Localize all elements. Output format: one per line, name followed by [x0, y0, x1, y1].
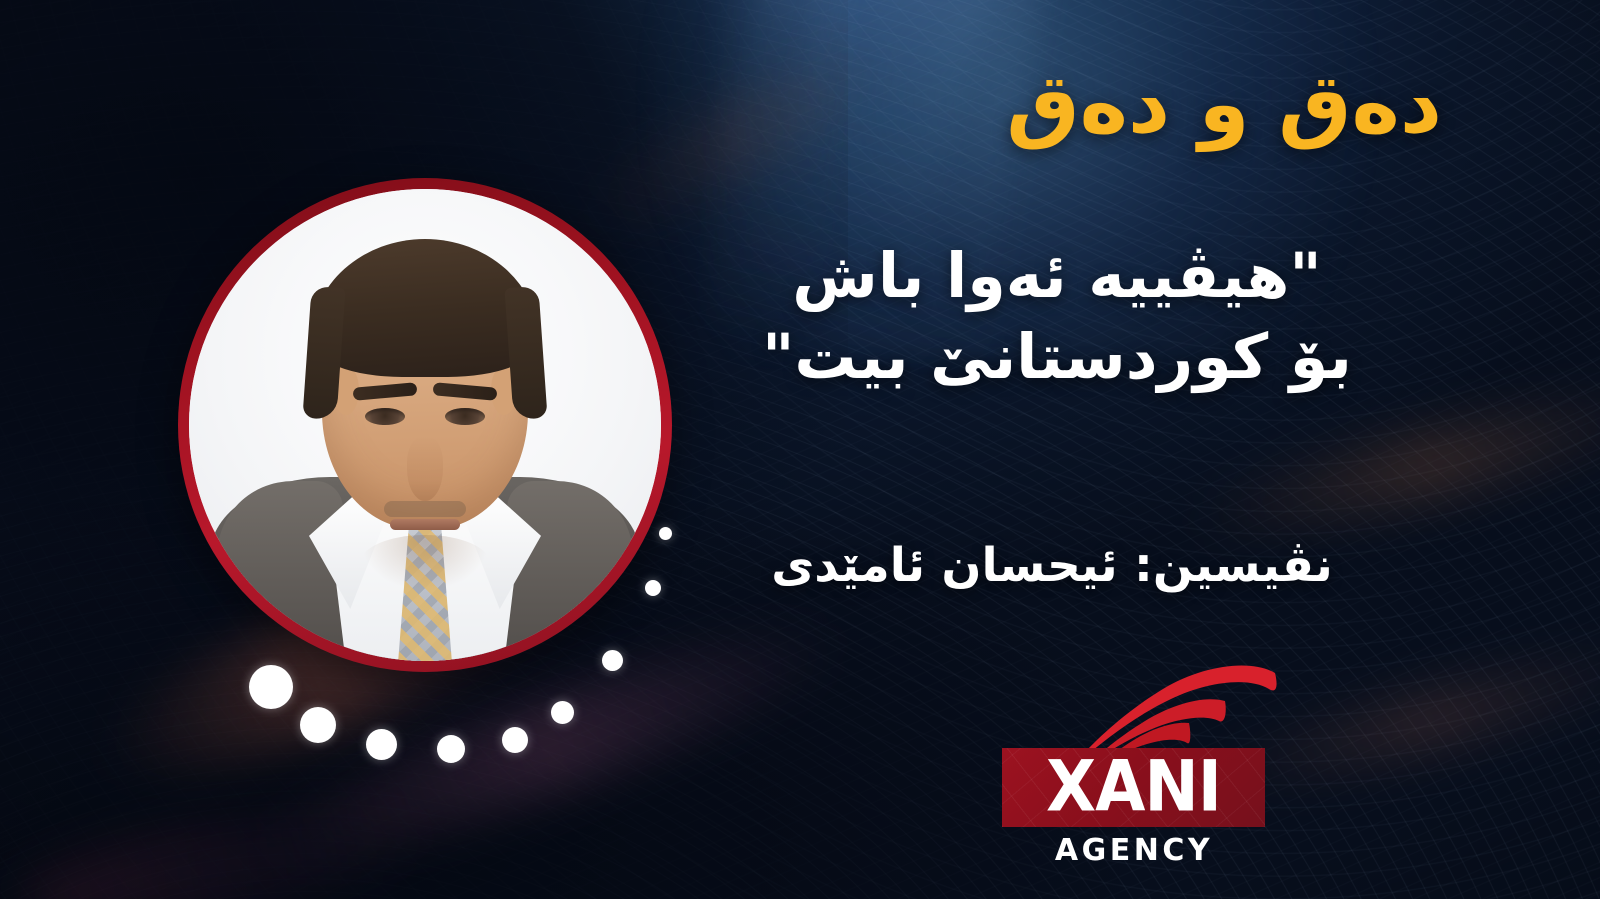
- photo-eye-left: [365, 408, 405, 425]
- photo-chin-shadow: [360, 535, 490, 591]
- byline: نڤیسین: ئیحسان ئامێدی: [662, 538, 1442, 594]
- news-graphic-card: دەق و دەق "هیڤییە ئەوا باش بۆ کوردستانێ …: [0, 0, 1600, 899]
- decorative-dot: [551, 701, 574, 724]
- portrait-photo: [189, 189, 661, 661]
- decorative-dot: [249, 665, 293, 709]
- decorative-dot: [300, 707, 336, 743]
- xani-agency-logo: XANI AGENCY: [975, 655, 1293, 860]
- logo-subtitle: AGENCY: [975, 833, 1293, 868]
- photo-moustache-shadow: [384, 501, 466, 517]
- photo-nose: [407, 437, 443, 501]
- portrait-ring: [178, 178, 672, 672]
- logo-wordmark: XANI: [1046, 752, 1221, 822]
- photo-mouth: [390, 519, 460, 530]
- decorative-dot: [502, 727, 528, 753]
- page-title: دەق و دەق: [682, 62, 1442, 149]
- quote-line-1: "هیڤییە ئەوا باش: [662, 236, 1452, 317]
- decorative-dot: [602, 650, 623, 671]
- photo-eye-right: [445, 408, 485, 425]
- quote-text: "هیڤییە ئەوا باش بۆ کوردستانێ بیت": [662, 236, 1452, 397]
- quote-line-2: بۆ کوردستانێ بیت": [662, 317, 1452, 398]
- decorative-dot: [366, 729, 397, 760]
- decorative-dot: [437, 735, 465, 763]
- decorative-dot: [645, 580, 661, 596]
- logo-wordmark-box: XANI: [1002, 748, 1265, 827]
